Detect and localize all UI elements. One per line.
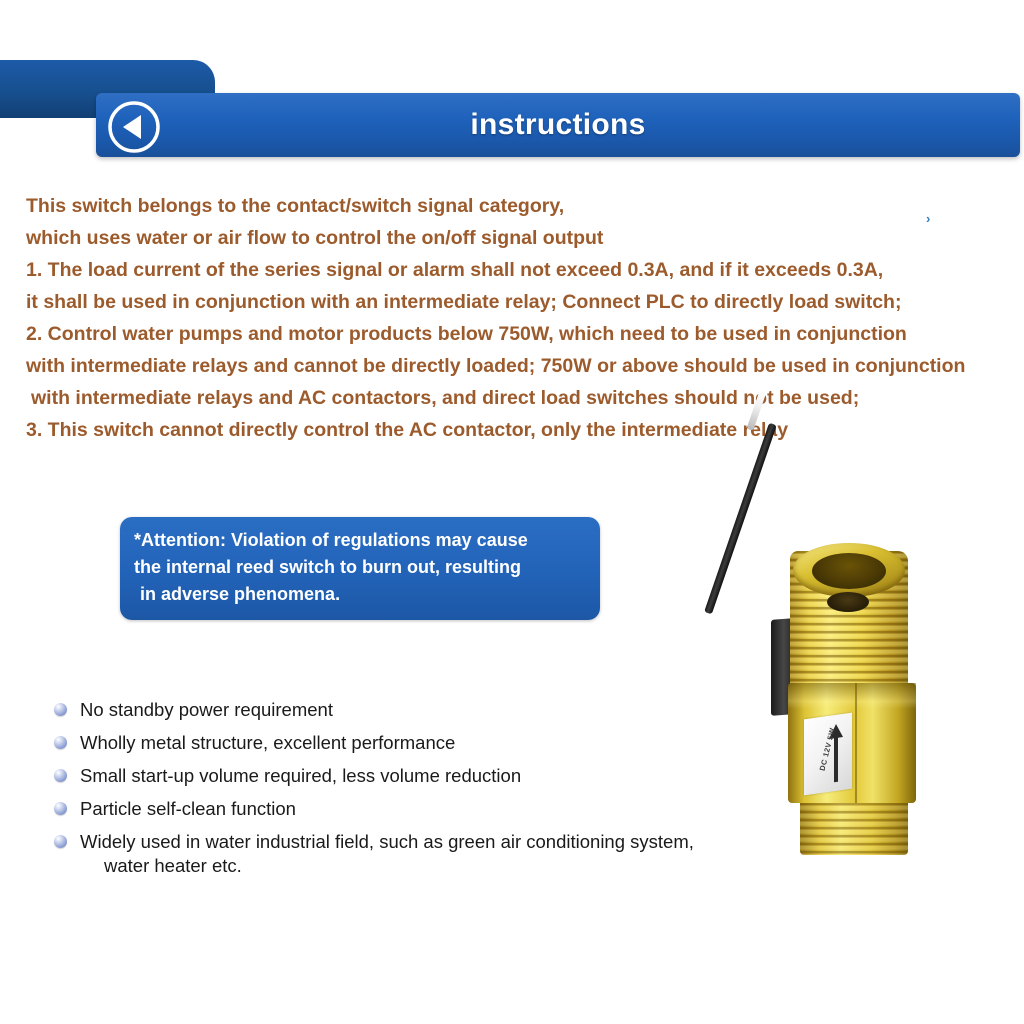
instructions-line-6: with intermediate relays and cannot be d… bbox=[26, 350, 1016, 382]
hex-nut-chamfer bbox=[788, 683, 916, 709]
feature-item-line: Widely used in water industrial field, s… bbox=[80, 830, 694, 854]
instructions-line-2: which uses water or air flow to control … bbox=[26, 222, 1016, 254]
instructions-line-4: it shall be used in conjunction with an … bbox=[26, 286, 1016, 318]
feature-item-line: No standby power requirement bbox=[80, 698, 333, 722]
instructions-line-1: This switch belongs to the contact/switc… bbox=[26, 190, 1016, 222]
list-item: Particle self-clean function bbox=[54, 797, 814, 821]
feature-item-line: Small start-up volume required, less vol… bbox=[80, 764, 521, 788]
feature-item-line: Wholly metal structure, excellent perfor… bbox=[80, 731, 455, 755]
blue-sphere-bullet-icon bbox=[54, 703, 67, 716]
blue-sphere-bullet-icon bbox=[54, 835, 67, 848]
page-title: instructions bbox=[96, 93, 1020, 157]
list-item: Wholly metal structure, excellent perfor… bbox=[54, 731, 814, 755]
attention-line-3: in adverse phenomena. bbox=[134, 581, 586, 608]
feature-item-text: Widely used in water industrial field, s… bbox=[80, 830, 694, 878]
blue-sphere-bullet-icon bbox=[54, 802, 67, 815]
attention-line-1: *Attention: Violation of regulations may… bbox=[134, 527, 586, 554]
list-item: Small start-up volume required, less vol… bbox=[54, 764, 814, 788]
inlet-bore-inner bbox=[812, 553, 886, 589]
feature-item-text: Particle self-clean function bbox=[80, 797, 296, 821]
stray-chevron-mark: › bbox=[926, 211, 930, 226]
attention-line-2: the internal reed switch to burn out, re… bbox=[134, 554, 586, 581]
feature-item-text: Small start-up volume required, less vol… bbox=[80, 764, 521, 788]
list-item: No standby power requirement bbox=[54, 698, 814, 722]
feature-item-line: Particle self-clean function bbox=[80, 797, 296, 821]
feature-item-line: water heater etc. bbox=[80, 854, 694, 878]
instructions-page: instructions This switch belongs to the … bbox=[0, 0, 1024, 1024]
inlet-bore-hole bbox=[827, 592, 869, 612]
instructions-line-3: 1. The load current of the series signal… bbox=[26, 254, 1016, 286]
feature-list: No standby power requirement Wholly meta… bbox=[54, 698, 814, 887]
attention-callout: *Attention: Violation of regulations may… bbox=[120, 517, 600, 620]
instructions-line-5: 2. Control water pumps and motor product… bbox=[26, 318, 1016, 350]
back-triangle-icon[interactable] bbox=[105, 98, 163, 156]
list-item: Widely used in water industrial field, s… bbox=[54, 830, 814, 878]
blue-sphere-bullet-icon bbox=[54, 736, 67, 749]
feature-item-text: No standby power requirement bbox=[80, 698, 333, 722]
hex-nut-facet-edge bbox=[855, 683, 857, 803]
threaded-barrel-bottom bbox=[800, 795, 908, 855]
feature-item-text: Wholly metal structure, excellent perfor… bbox=[80, 731, 455, 755]
blue-sphere-bullet-icon bbox=[54, 769, 67, 782]
